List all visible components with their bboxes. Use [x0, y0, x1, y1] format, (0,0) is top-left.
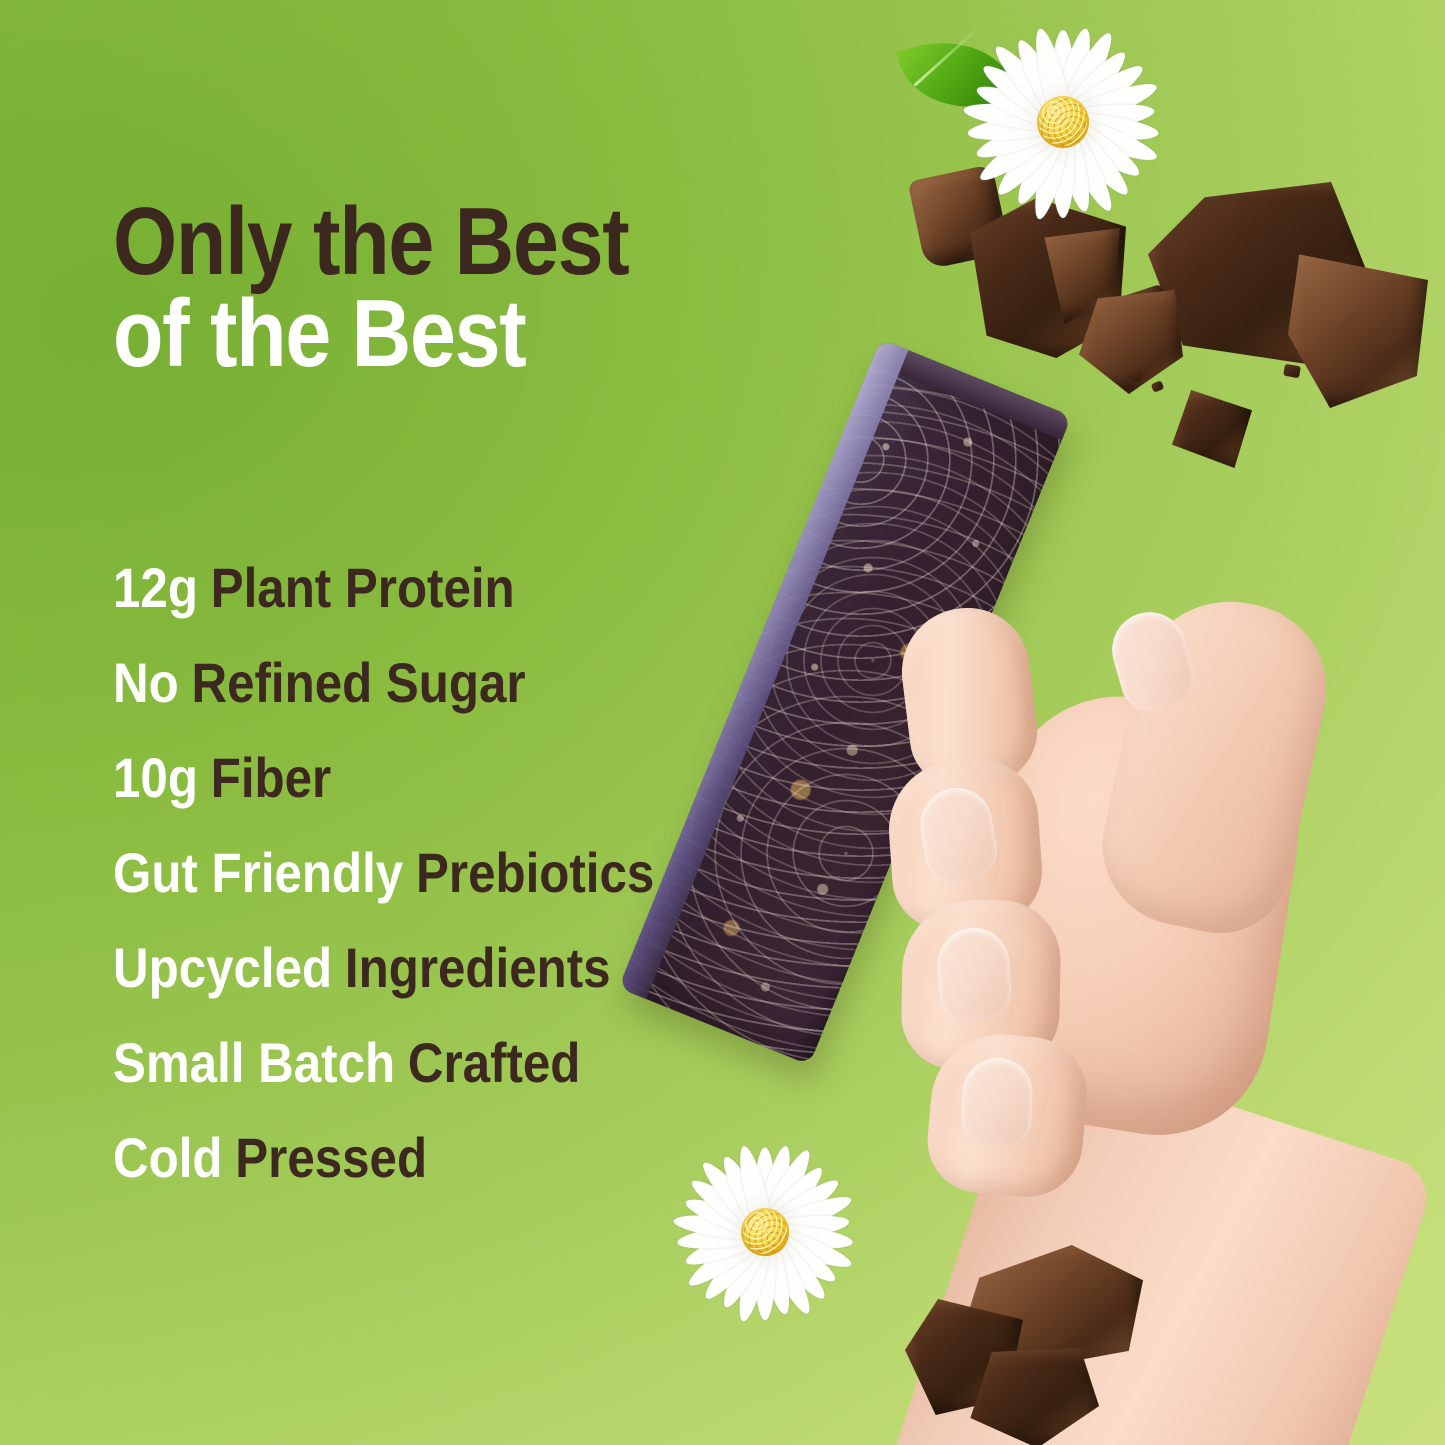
chocolate-chunk-lower-right [965, 1348, 1115, 1445]
headline-block: Only the Best of the Best [113, 196, 873, 380]
fingernail [935, 926, 1013, 1023]
feature-item-gut-friendly-prebiotics: Gut Friendly Prebiotics [113, 825, 654, 920]
feature-list: 12g Plant Protein No Refined Sugar 10g F… [113, 540, 728, 1205]
feature-item-plant-protein: 12g Plant Protein [113, 540, 654, 635]
feature-item-fiber: 10g Fiber [113, 730, 654, 825]
feature-lead: Gut Friendly [113, 845, 403, 901]
feature-item-cold-pressed: Cold Pressed [113, 1110, 654, 1205]
product-feature-poster: Only the Best of the Best 12g Plant Prot… [0, 0, 1445, 1445]
feature-item-small-batch-crafted: Small Batch Crafted [113, 1015, 654, 1110]
feature-lead: 12g [113, 560, 198, 616]
feature-rest: Prebiotics [416, 845, 654, 901]
daisy-center [1037, 96, 1089, 148]
feature-lead: 10g [113, 750, 198, 806]
feature-lead: Cold [113, 1130, 222, 1186]
fingernail [960, 1057, 1033, 1147]
headline-line-1: Only the Best [113, 196, 767, 288]
feature-rest: Refined Sugar [191, 655, 525, 711]
feature-rest: Pressed [235, 1130, 427, 1186]
feature-item-no-refined-sugar: No Refined Sugar [113, 635, 654, 730]
feature-rest: Fiber [211, 750, 331, 806]
daisy-center [741, 1208, 789, 1256]
page-title: Only the Best of the Best [113, 196, 767, 380]
feature-lead: Upcycled [113, 940, 332, 996]
headline-line-2: of the Best [113, 288, 767, 380]
feature-item-upcycled-ingredients: Upcycled Ingredients [113, 920, 654, 1015]
chocolate-crumb [1283, 364, 1301, 379]
chocolate-chunk-small-right [1172, 390, 1258, 476]
feature-rest: Plant Protein [211, 560, 515, 616]
daisy-flower-top-icon [963, 22, 1163, 222]
feature-rest: Ingredients [345, 940, 611, 996]
feature-lead: Small Batch [113, 1035, 395, 1091]
feature-rest: Crafted [408, 1035, 581, 1091]
feature-lead: No [113, 655, 179, 711]
